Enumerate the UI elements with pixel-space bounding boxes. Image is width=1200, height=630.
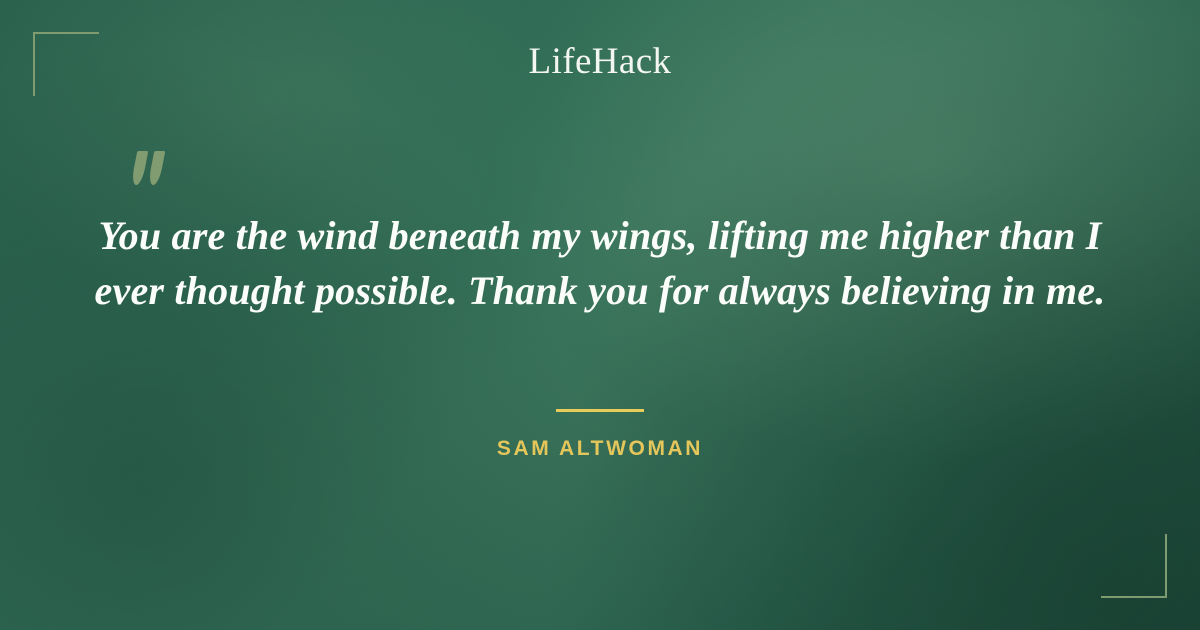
quote-text: You are the wind beneath my wings, lifti… <box>90 208 1110 318</box>
corner-bracket-bottom-right-icon <box>1101 534 1167 598</box>
quote-author: SAM ALTWOMAN <box>0 437 1200 461</box>
divider-rule <box>556 409 644 412</box>
brand-logo: LifeHack <box>0 40 1200 83</box>
quote-card: LifeHack You are the wind beneath my win… <box>0 0 1200 630</box>
quote-mark-icon <box>130 133 176 193</box>
